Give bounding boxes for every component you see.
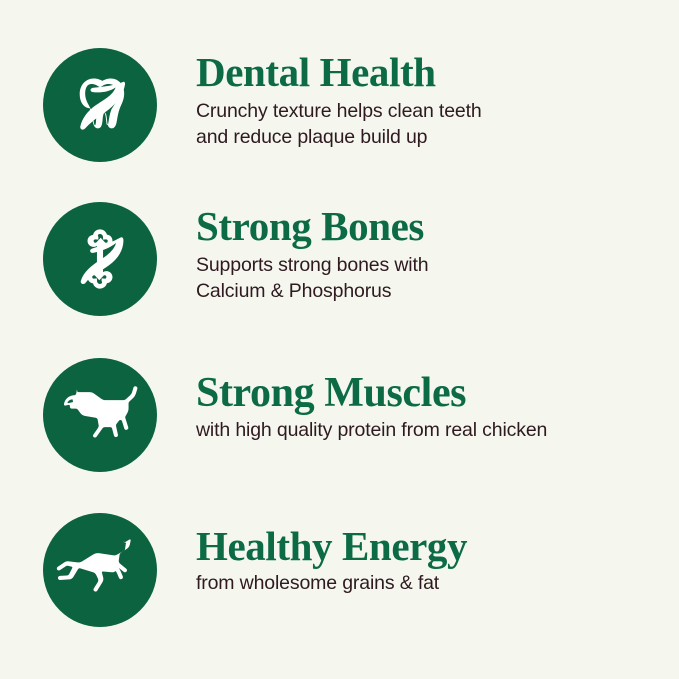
benefit-text-block: Dental Health Crunchy texture helps clea… (196, 52, 671, 151)
benefit-description-line: from wholesome grains & fat (196, 571, 671, 597)
benefit-title: Healthy Energy (196, 526, 671, 567)
benefit-description: Supports strong bones with Calcium & Pho… (196, 253, 671, 305)
benefit-description-line: with high quality protein from real chic… (196, 418, 671, 444)
bone-leaf-icon (43, 202, 157, 316)
tooth-leaf-icon (43, 48, 157, 162)
benefit-description-line: Calcium & Phosphorus (196, 279, 671, 305)
standing-dog-icon (43, 358, 157, 472)
benefit-text-block: Healthy Energy from wholesome grains & f… (196, 526, 671, 597)
leaping-dog-icon (43, 513, 157, 627)
benefit-description: from wholesome grains & fat (196, 571, 671, 597)
benefit-description-line: Crunchy texture helps clean teeth (196, 99, 671, 125)
benefit-title: Strong Muscles (196, 372, 671, 414)
benefit-text-block: Strong Bones Supports strong bones with … (196, 206, 671, 305)
benefit-description: with high quality protein from real chic… (196, 418, 671, 444)
benefits-panel: Dental Health Crunchy texture helps clea… (0, 0, 679, 679)
benefit-title: Strong Bones (196, 206, 671, 247)
benefit-title: Dental Health (196, 52, 671, 93)
benefit-description: Crunchy texture helps clean teeth and re… (196, 99, 671, 151)
benefit-description-line: and reduce plaque build up (196, 125, 671, 151)
benefit-description-line: Supports strong bones with (196, 253, 671, 279)
benefit-text-block: Strong Muscles with high quality protein… (196, 372, 671, 444)
